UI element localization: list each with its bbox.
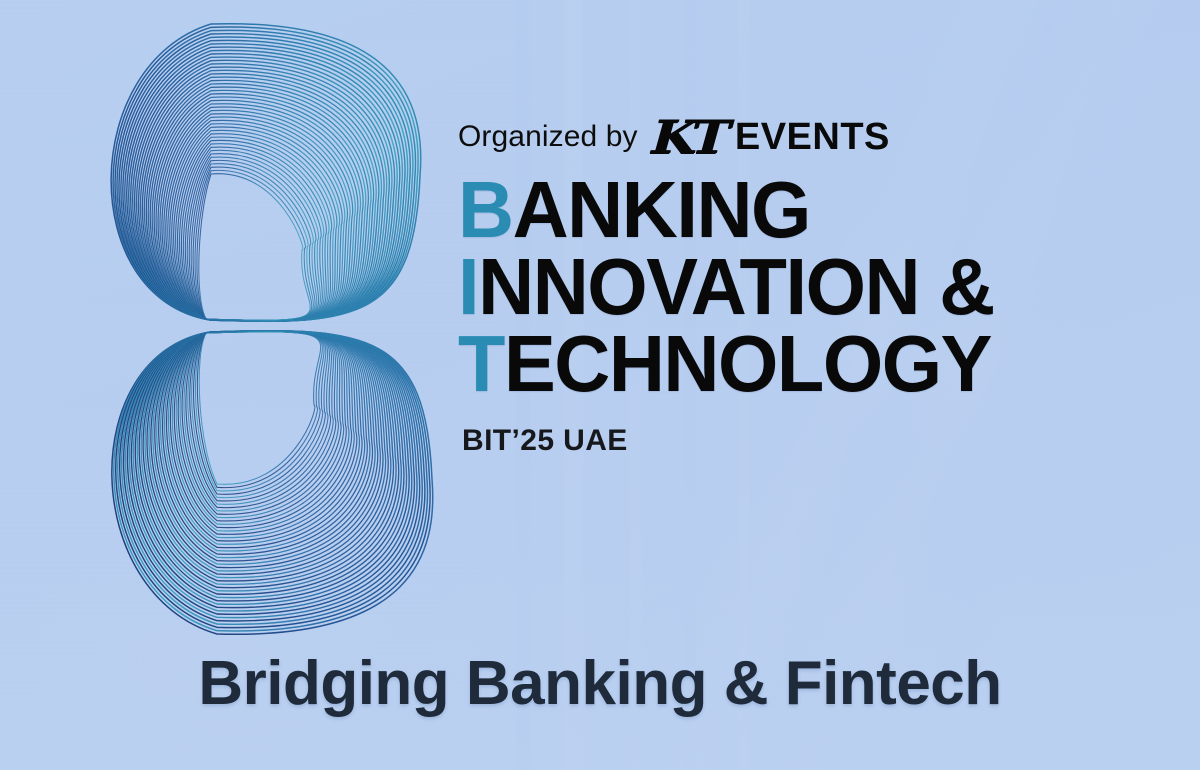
headline-rest-3: ECHNOLOGY xyxy=(504,319,991,408)
headline-accent-b: B xyxy=(458,165,513,254)
organizer-credit: Organized by KT EVENTS xyxy=(458,112,1158,162)
event-code-label: BIT’25 UAE xyxy=(462,424,1158,458)
organized-by-label: Organized by xyxy=(458,120,638,154)
headline-rest-2: NNOVATION & xyxy=(478,242,994,331)
headline-accent-i: I xyxy=(458,242,478,331)
headline-line-3: TECHNOLOGY xyxy=(458,326,1137,403)
headline-line-1: BANKING xyxy=(458,172,1137,249)
headline-line-2: INNOVATION & xyxy=(458,249,1137,326)
headline-accent-t: T xyxy=(458,319,504,408)
poster-content: Organized by KT EVENTS BANKING INNOVATIO… xyxy=(458,112,1158,458)
kt-events-wordmark: EVENTS xyxy=(735,118,890,156)
page-title: BANKING INNOVATION & TECHNOLOGY xyxy=(458,172,1158,402)
event-poster: Organized by KT EVENTS BANKING INNOVATIO… xyxy=(0,0,1200,770)
bit-logo-mark xyxy=(60,8,450,648)
event-tagline: Bridging Banking & Fintech xyxy=(0,648,1200,719)
kt-monogram-logo: KT xyxy=(650,114,725,160)
headline-rest-1: ANKING xyxy=(513,165,810,254)
